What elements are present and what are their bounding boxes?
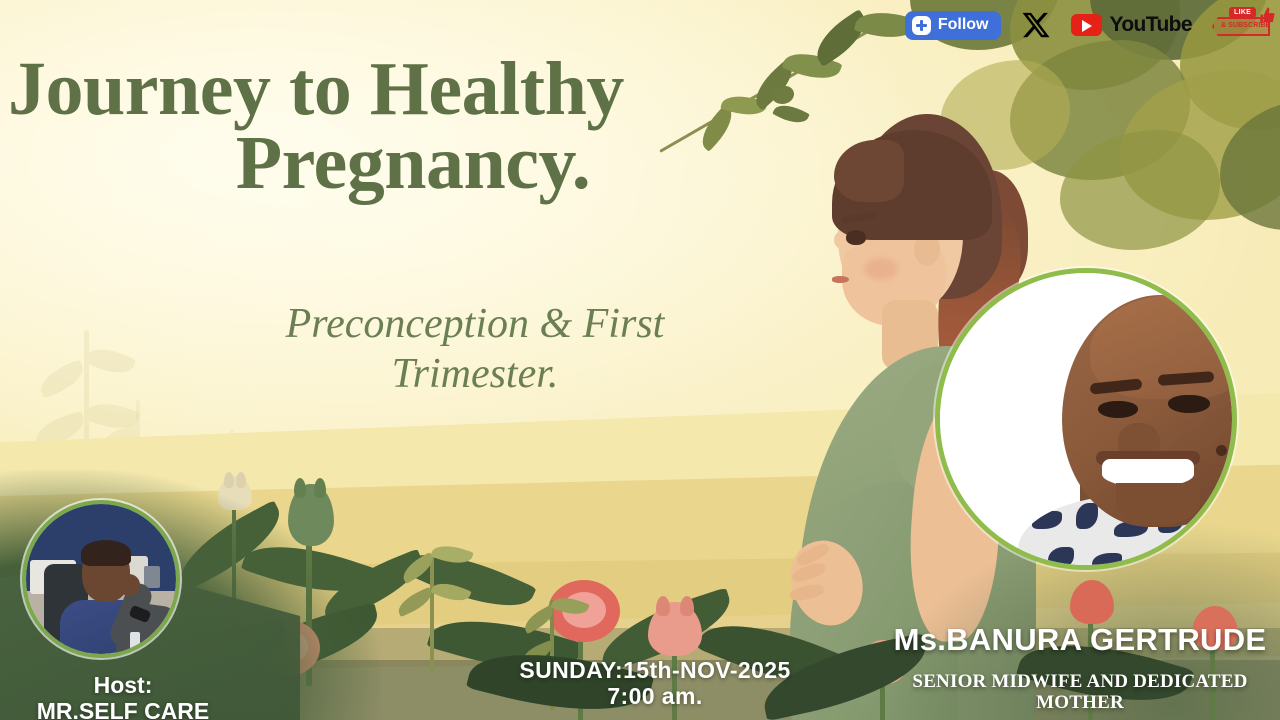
youtube-play-icon — [1071, 14, 1102, 36]
event-time: 7:00 am. — [440, 684, 870, 710]
youtube-logo[interactable]: YouTube — [1071, 13, 1192, 37]
speaker-role: SENIOR MIDWIFE AND DEDICATED MOTHER — [880, 672, 1280, 714]
subtitle-line-2: Trimester. — [150, 350, 800, 400]
poster-canvas: Journey to Healthy Pregnancy. Preconcept… — [0, 0, 1280, 720]
youtube-label: YouTube — [1109, 13, 1192, 37]
like-subscribe-badge[interactable]: LIKE & SUBSCRIBE — [1212, 5, 1274, 45]
host-block: Host: MR.SELF CARE — [0, 672, 246, 720]
host-label-text: Host: — [0, 672, 246, 698]
host-avatar[interactable] — [22, 500, 180, 658]
subtitle: Preconception & First Trimester. — [150, 300, 800, 399]
speaker-avatar[interactable] — [935, 268, 1237, 570]
follow-button-label: Follow — [938, 16, 989, 34]
x-logo-icon[interactable] — [1021, 10, 1051, 40]
speaker-role-line-2: MOTHER — [880, 693, 1280, 714]
event-datetime: SUNDAY:15th-NOV-2025 7:00 am. — [440, 658, 870, 710]
title-line-2: Pregnancy. — [8, 127, 768, 201]
page-title: Journey to Healthy Pregnancy. — [8, 53, 768, 200]
thumbs-up-icon — [1259, 5, 1276, 27]
subtitle-line-1: Preconception & First — [150, 300, 800, 350]
event-date: SUNDAY:15th-NOV-2025 — [440, 658, 870, 684]
follow-button[interactable]: Follow — [905, 11, 1002, 40]
host-name: MR.SELF CARE — [0, 698, 246, 720]
speaker-name: Ms.BANURA GERTRUDE — [880, 622, 1280, 658]
title-line-1: Journey to Healthy — [8, 47, 624, 131]
social-bar: Follow YouTube LIKE & SUBSCRIBE — [905, 8, 1274, 42]
like-badge-label: LIKE — [1229, 7, 1256, 18]
speaker-role-line-1: SENIOR MIDWIFE AND DEDICATED — [880, 672, 1280, 693]
plus-icon — [912, 16, 931, 35]
